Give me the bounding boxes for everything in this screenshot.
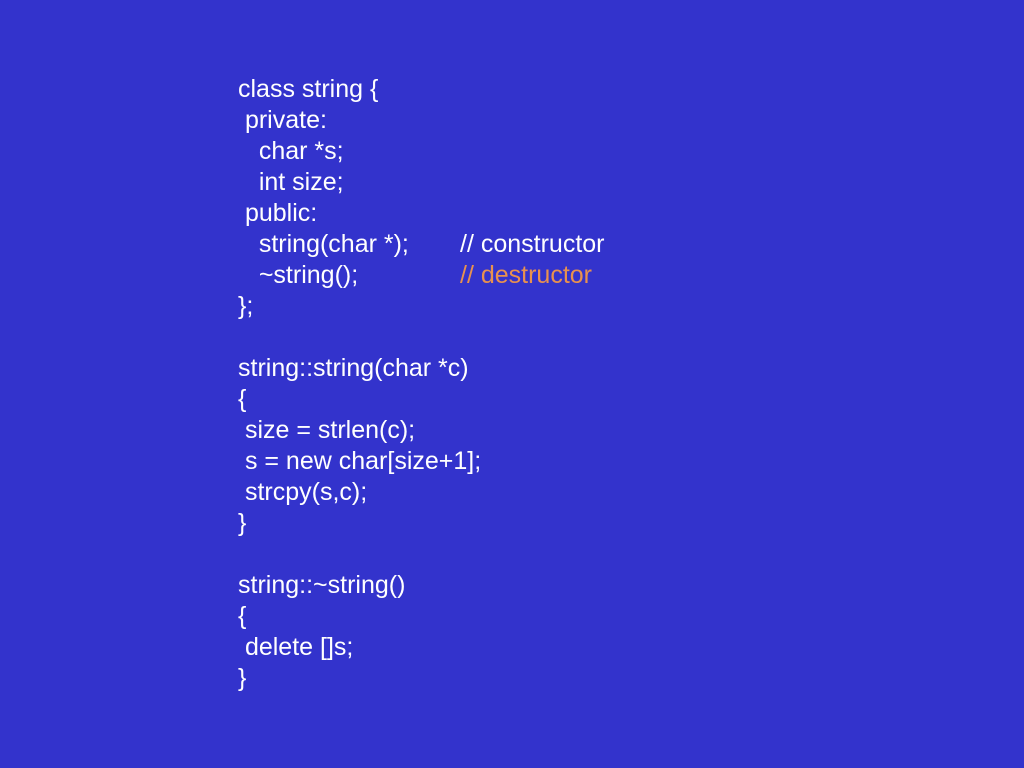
- code-line-text: string(char *);: [238, 230, 409, 258]
- code-line: delete []s;: [238, 632, 978, 663]
- code-line: }: [238, 663, 978, 694]
- code-line: s = new char[size+1];: [238, 446, 978, 477]
- code-line: [238, 322, 978, 353]
- code-line-text: string::~string(): [238, 571, 405, 599]
- code-line-text: {: [238, 602, 246, 630]
- code-line: ~string();// destructor: [238, 260, 978, 291]
- code-line-text: char *s;: [238, 137, 344, 165]
- slide-canvas: class string { private: char *s; int siz…: [0, 0, 1024, 768]
- code-line: size = strlen(c);: [238, 415, 978, 446]
- code-line-text: {: [238, 385, 246, 413]
- code-line: string(char *);// constructor: [238, 229, 978, 260]
- code-line: strcpy(s,c);: [238, 477, 978, 508]
- code-line: class string {: [238, 74, 978, 105]
- code-comment: // destructor: [460, 260, 592, 291]
- code-line-text: private:: [238, 106, 327, 134]
- code-line-text: size = strlen(c);: [238, 416, 415, 444]
- code-line: [238, 539, 978, 570]
- code-line: {: [238, 601, 978, 632]
- code-line: {: [238, 384, 978, 415]
- code-line: public:: [238, 198, 978, 229]
- code-line-text: public:: [238, 199, 317, 227]
- code-line: int size;: [238, 167, 978, 198]
- code-line-text: s = new char[size+1];: [238, 447, 481, 475]
- code-line-text: class string {: [238, 75, 378, 103]
- code-line: private:: [238, 105, 978, 136]
- code-line: char *s;: [238, 136, 978, 167]
- code-line-text: int size;: [238, 168, 344, 196]
- code-line-text: };: [238, 292, 253, 320]
- code-line-text: }: [238, 664, 246, 692]
- code-listing: class string { private: char *s; int siz…: [238, 74, 978, 694]
- code-line: }: [238, 508, 978, 539]
- code-line-text: }: [238, 509, 246, 537]
- code-line: string::string(char *c): [238, 353, 978, 384]
- code-comment: // constructor: [460, 229, 605, 260]
- code-line-text: strcpy(s,c);: [238, 478, 367, 506]
- code-line-text: ~string();: [238, 261, 358, 289]
- code-line-text: string::string(char *c): [238, 354, 469, 382]
- code-line-text: delete []s;: [238, 633, 353, 661]
- code-line: string::~string(): [238, 570, 978, 601]
- code-line: };: [238, 291, 978, 322]
